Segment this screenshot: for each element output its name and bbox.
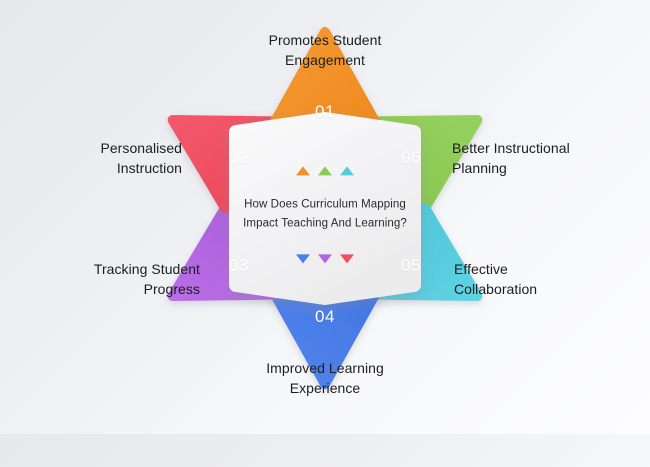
infographic-canvas: 01 02 03 04 05 06 How Does Curriculum Ma… (0, 0, 650, 434)
segment-label-improved-learning-experience: Improved Learning Experience (266, 359, 384, 399)
center-hexagon (236, 119, 414, 298)
segment-label-promotes-student-engagement: Promotes Student Engagement (269, 31, 382, 71)
segment-label-better-instructional-planning: Better Instructional Planning (452, 139, 570, 179)
segment-label-effective-collaboration: Effective Collaboration (454, 260, 537, 300)
segment-label-personalised-instruction: Personalised Instruction (100, 139, 182, 179)
segment-label-tracking-student-progress: Tracking Student Progress (94, 260, 200, 300)
